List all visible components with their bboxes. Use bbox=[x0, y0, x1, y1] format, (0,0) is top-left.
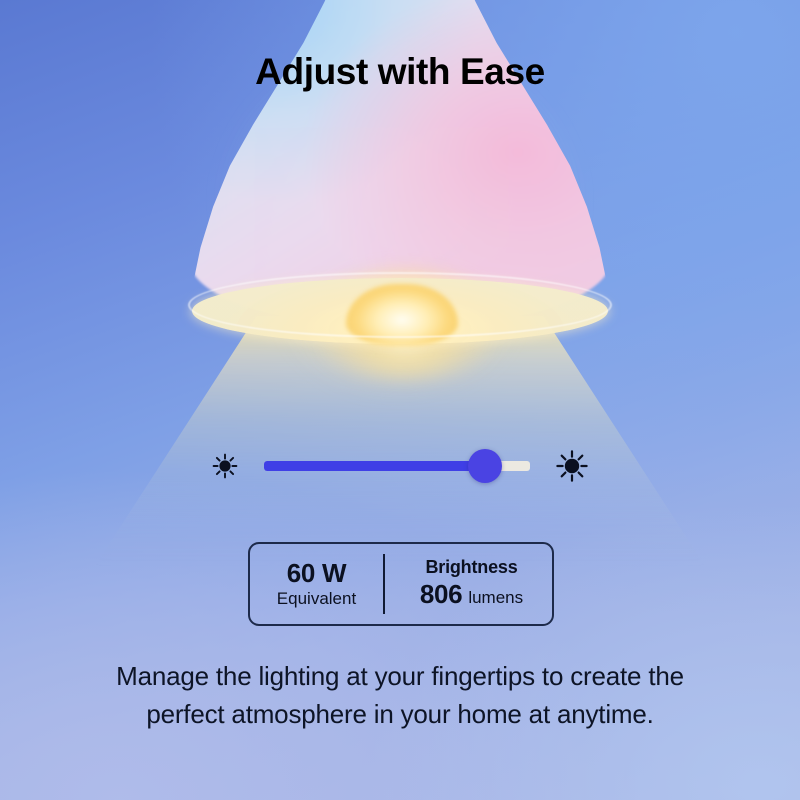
brightness-unit: lumens bbox=[468, 588, 523, 608]
brightness-slider[interactable] bbox=[210, 443, 590, 489]
page-title: Adjust with Ease bbox=[0, 52, 800, 93]
slider-thumb[interactable] bbox=[468, 449, 502, 483]
wattage-label: Equivalent bbox=[277, 589, 356, 609]
bulb-spec-box: 60 W Equivalent Brightness 806 lumens bbox=[248, 542, 554, 626]
brightness-value-row: 806 lumens bbox=[420, 579, 523, 610]
brightness-label: Brightness bbox=[425, 558, 517, 578]
wattage-value: 60 W bbox=[287, 560, 346, 587]
caption-line-2: perfect atmosphere in your home at anyti… bbox=[60, 696, 740, 734]
sun-high-brightness-icon bbox=[554, 448, 590, 484]
brightness-cell: Brightness 806 lumens bbox=[385, 544, 552, 624]
sun-low-brightness-icon bbox=[210, 451, 240, 481]
caption-line-1: Manage the lighting at your fingertips t… bbox=[60, 658, 740, 696]
slider-track[interactable] bbox=[264, 461, 530, 471]
wattage-cell: 60 W Equivalent bbox=[250, 544, 383, 624]
caption: Manage the lighting at your fingertips t… bbox=[60, 658, 740, 733]
promo-graphic-page: Adjust with Ease bbox=[0, 0, 800, 800]
brightness-value: 806 bbox=[420, 579, 462, 610]
slider-track-fill bbox=[264, 461, 485, 471]
